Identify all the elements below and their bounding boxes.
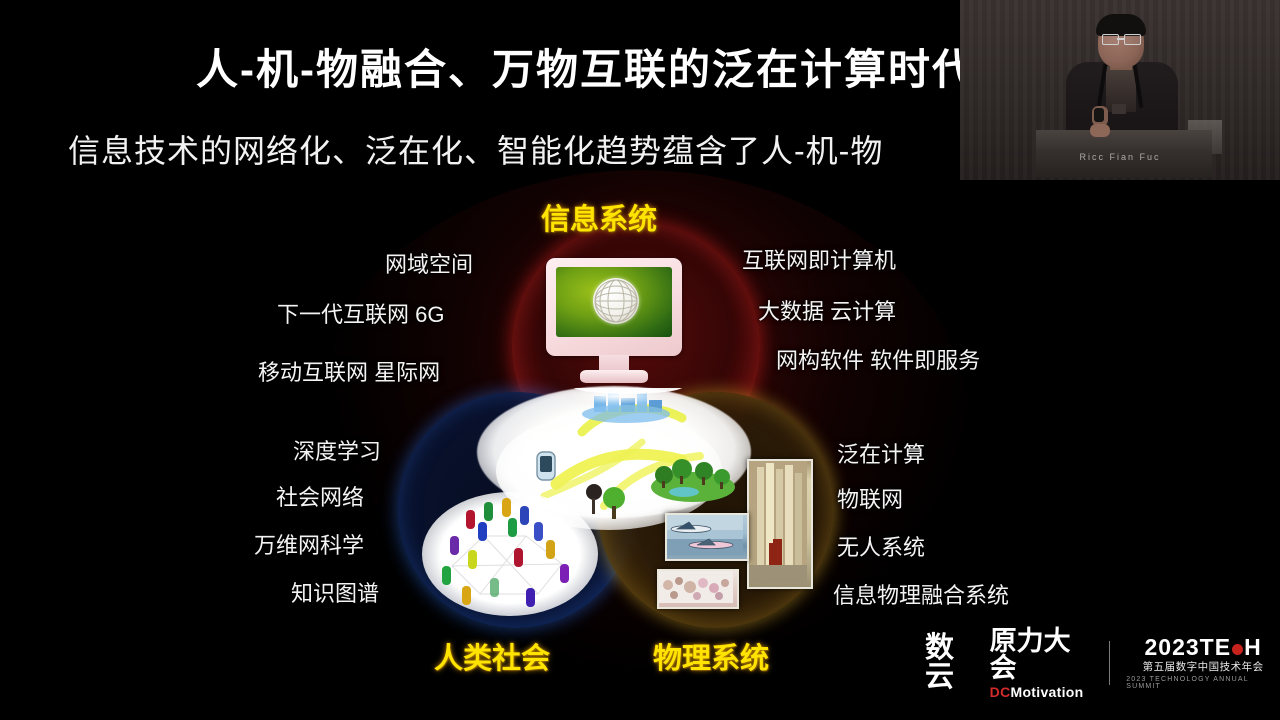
speaker-video-overlay[interactable]: Ricc Fian Fuc [960, 0, 1280, 188]
logo-text-stack: 原力大会 DCMotivation [990, 628, 1094, 699]
logo-year-tail: H [1244, 634, 1262, 660]
skyscraper-photo [747, 459, 813, 589]
presentation-slide: 人-机-物融合、万物互联的泛在计算时代 信息技术的网络化、泛在化、智能化趋势蕴含… [0, 0, 1280, 720]
speaker-hair [1096, 14, 1146, 36]
label-bottom-left-2: 社会网络 [276, 480, 364, 512]
monitor-base [580, 370, 648, 383]
video-caption: Ricc Fian Fuc [960, 152, 1280, 162]
speaker-glasses-right [1124, 34, 1141, 45]
label-top-left-3: 移动互联网 星际网 [258, 355, 440, 387]
venn-label-human-society: 人类社会 [434, 635, 550, 677]
speaker-hand-podium [1090, 124, 1110, 137]
presenter-clicker-icon [1094, 108, 1104, 122]
logo-event-block: 2023TEH 第五届数字中国技术年会 2023 TECHNOLOGY ANNU… [1126, 636, 1280, 690]
logo-year: 2023 [1145, 634, 1200, 660]
logo-event-cn: 第五届数字中国技术年会 [1143, 662, 1264, 673]
logo-brand-en-white: Motivation [1010, 684, 1083, 700]
label-top-left-1: 网域空间 [385, 247, 473, 279]
logo-brand-cn2: 原力大会 [990, 628, 1094, 682]
label-top-left-2: 下一代互联网 6G [277, 297, 444, 329]
label-bottom-right-2: 物联网 [837, 482, 903, 514]
logo-brand-en-red: DC [990, 684, 1011, 700]
venn-label-information-system: 信息系统 [541, 196, 657, 238]
venn-label-physical-system: 物理系统 [653, 635, 769, 677]
speaker-badge [1112, 104, 1126, 114]
speaker-glasses-bridge [1117, 38, 1124, 40]
label-bottom-right-3: 无人系统 [837, 530, 925, 562]
label-top-right-3: 网构软件 软件即服务 [776, 343, 980, 375]
airplane-photo [665, 513, 749, 561]
logo-divider [1109, 641, 1110, 685]
globe-icon [593, 278, 639, 324]
monitor-glow [570, 388, 662, 404]
label-bottom-left-1: 深度学习 [293, 434, 381, 466]
conference-logo: 数云 原力大会 DCMotivation 2023TEH 第五届数字中国技术年会… [925, 634, 1280, 692]
label-bottom-left-3: 万维网科学 [254, 528, 364, 560]
logo-year-suffix: TE [1200, 634, 1231, 660]
logo-dot-icon [1232, 644, 1243, 655]
label-bottom-right-4: 信息物理融合系统 [833, 578, 1009, 610]
label-top-right-2: 大数据 云计算 [758, 294, 896, 326]
green-island-icon [650, 455, 736, 503]
people-network-icon [422, 492, 598, 616]
label-bottom-left-4: 知识图谱 [291, 576, 379, 608]
label-top-right-1: 互联网即计算机 [742, 243, 896, 275]
label-bottom-right-1: 泛在计算 [837, 437, 925, 469]
crowd-photo [657, 569, 739, 609]
mobile-phone-icon [535, 450, 557, 482]
logo-brand-cn: 数云 [925, 634, 981, 692]
logo-year-line: 2023TEH [1145, 636, 1262, 659]
video-bottom-bar [960, 180, 1280, 188]
logo-brand-en: DCMotivation [990, 685, 1094, 699]
logo-event-en: 2023 TECHNOLOGY ANNUAL SUMMIT [1126, 676, 1280, 690]
